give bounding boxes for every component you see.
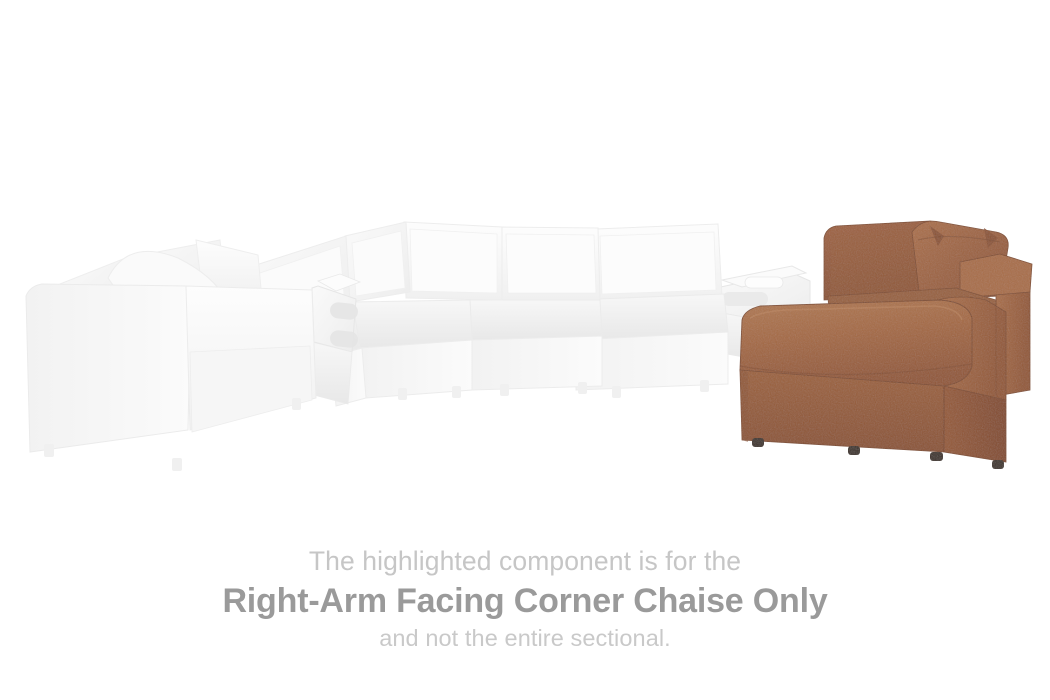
- caption-line-main: Right-Arm Facing Corner Chaise Only: [0, 584, 1050, 627]
- sectional-sofa-illustration: [0, 0, 1050, 520]
- ghosted-sectional: [26, 222, 810, 471]
- caption-line-top: The highlighted component is for the: [0, 548, 1050, 584]
- caption-block: The highlighted component is for the Rig…: [0, 548, 1050, 650]
- caption-line-bottom: and not the entire sectional.: [0, 627, 1050, 651]
- right-arm-facing-corner-chaise-module: [740, 221, 1032, 469]
- product-highlight-page: The highlighted component is for the Rig…: [0, 0, 1050, 700]
